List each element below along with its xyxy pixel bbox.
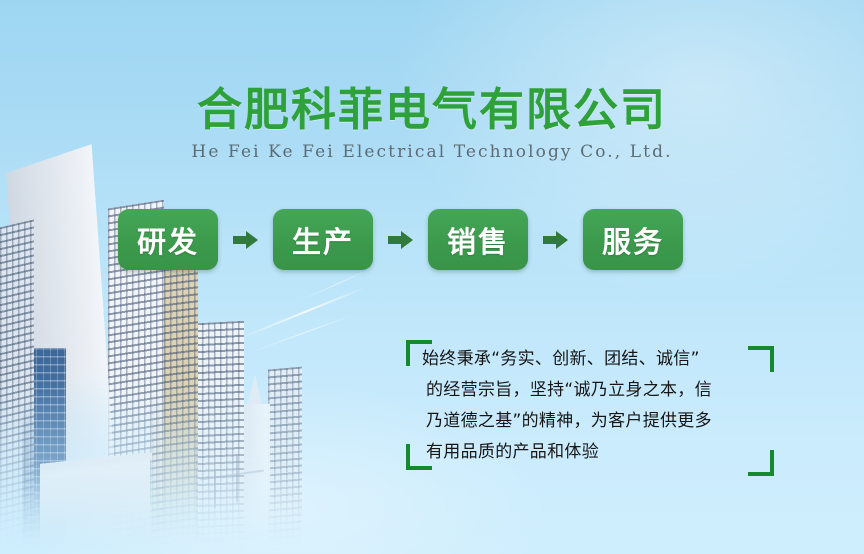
company-title-en: He Fei Ke Fei Electrical Technology Co.,…	[0, 142, 864, 162]
company-motto-panel: 始终秉承“务实、创新、团结、诚信” 的经营宗旨，坚持“诚乃立身之本，信 乃道德之…	[406, 340, 774, 476]
process-arrow-3	[528, 230, 583, 250]
arrow-right-icon	[233, 230, 259, 250]
arrow-right-icon	[388, 230, 414, 250]
motto-line: 乃道德之基”的精神，为客户提供更多	[422, 406, 766, 437]
process-step-xiaoshou[interactable]: 销售	[428, 209, 528, 270]
motto-line: 的经营宗旨，坚持“诚乃立身之本，信	[422, 375, 766, 406]
process-step-yanfa[interactable]: 研发	[118, 209, 218, 270]
process-arrow-2	[373, 230, 428, 250]
process-flow: 研发 生产 销售 服务	[118, 209, 683, 270]
company-banner: 合肥科菲电气有限公司 He Fei Ke Fei Electrical Tech…	[0, 0, 864, 554]
process-step-fuwu[interactable]: 服务	[583, 209, 683, 270]
title-block: 合肥科菲电气有限公司 He Fei Ke Fei Electrical Tech…	[0, 86, 864, 162]
process-step-shengchan[interactable]: 生产	[273, 209, 373, 270]
arrow-right-icon	[543, 230, 569, 250]
city-skyscrapers-photo	[0, 134, 430, 554]
light-streak-icon	[300, 268, 372, 301]
motto-line: 有用品质的产品和体验	[422, 437, 766, 468]
motto-line: 始终秉承“务实、创新、团结、诚信”	[422, 344, 766, 375]
light-streak-icon	[238, 286, 367, 340]
process-arrow-1	[218, 230, 273, 250]
motto-text: 始终秉承“务实、创新、团结、诚信” 的经营宗旨，坚持“诚乃立身之本，信 乃道德之…	[422, 344, 766, 468]
company-title-cn: 合肥科菲电气有限公司	[0, 86, 864, 133]
light-streak-icon	[250, 314, 356, 354]
